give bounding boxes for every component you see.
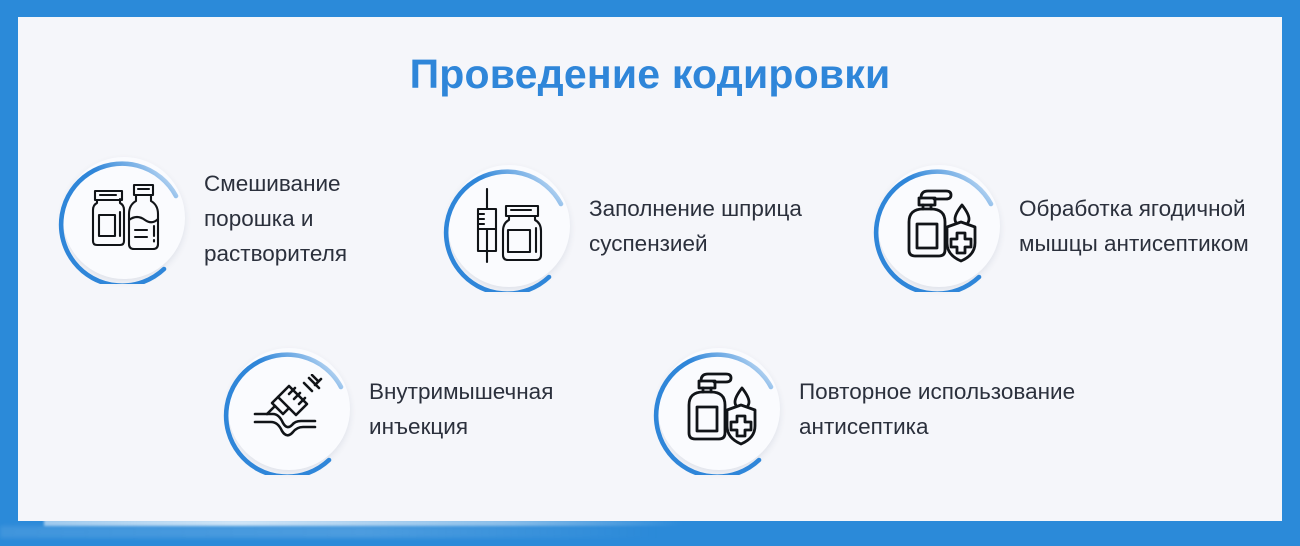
step-item-antiseptic-site[interactable]: Обработка ягодичной мышцы антисептиком (873, 160, 1249, 292)
step-label: Заполнение шприца суспензией (589, 191, 802, 261)
step-badge (653, 343, 785, 475)
step-label: Внутримышечная инъекция (369, 374, 553, 444)
step-label: Обработка ягодичной мышцы антисептиком (1019, 191, 1249, 261)
antiseptic-dispenser-shield-icon (873, 160, 1005, 292)
step-badge (223, 343, 355, 475)
infographic-canvas: Проведение кодировки (18, 17, 1282, 521)
intramuscular-injection-icon (223, 343, 355, 475)
infographic-frame: Проведение кодировки (0, 0, 1300, 546)
step-label: Повторное использование антисептика (799, 374, 1075, 444)
page-title: Проведение кодировки (18, 51, 1282, 98)
step-label: Смешивание порошка и растворителя (204, 166, 347, 271)
syringe-and-vial-icon (443, 160, 575, 292)
step-item-fill-syringe[interactable]: Заполнение шприца суспензией (443, 160, 802, 292)
step-item-mixing[interactable]: Смешивание порошка и растворителя (58, 152, 347, 284)
antiseptic-dispenser-shield-icon (653, 343, 785, 475)
step-item-intramuscular-injection[interactable]: Внутримышечная инъекция (223, 343, 553, 475)
two-vials-icon (58, 152, 190, 284)
step-badge (873, 160, 1005, 292)
step-badge (58, 152, 190, 284)
step-item-antiseptic-repeat[interactable]: Повторное использование антисептика (653, 343, 1075, 475)
step-badge (443, 160, 575, 292)
frame-highlight-glow (0, 526, 660, 538)
